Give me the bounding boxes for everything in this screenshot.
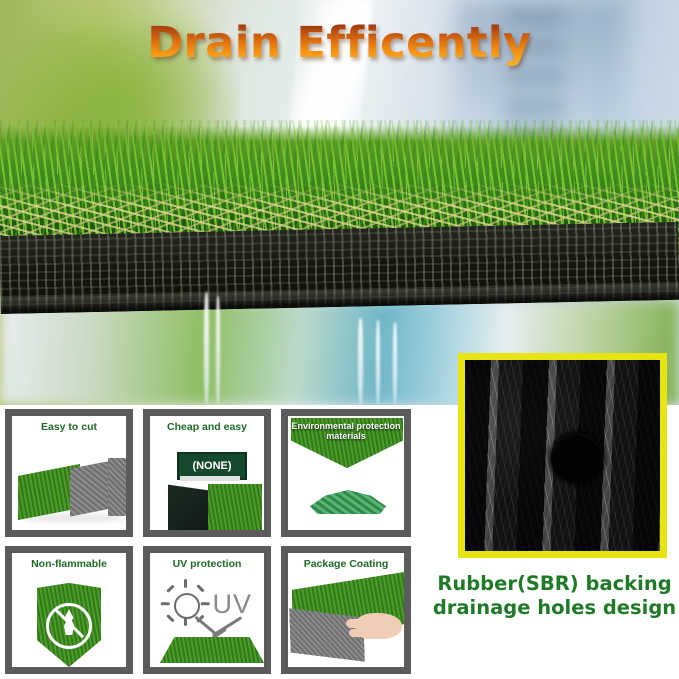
feature-panel-package-coating[interactable]: Package Coating	[281, 546, 411, 674]
mesh-backing-layer	[0, 222, 679, 314]
finger	[346, 619, 364, 628]
finger	[349, 629, 364, 637]
grass-surface	[160, 637, 264, 663]
green-turf-patch	[208, 484, 262, 534]
sun-ray	[166, 614, 174, 622]
package-coating-illustration	[288, 573, 404, 667]
feature-panel-easy-to-cut[interactable]: Easy to cut	[5, 409, 133, 537]
sun-ray	[201, 602, 210, 605]
sun-ray	[161, 602, 170, 605]
sun-ray	[166, 584, 174, 592]
uv-protection-illustration: UV	[150, 573, 264, 667]
sun-ray	[184, 617, 187, 626]
water-drip	[393, 322, 397, 404]
drainage-hole	[551, 433, 603, 483]
rubber-caption-line1: Rubber(SBR) backing	[430, 572, 679, 596]
turf-rolled-curl	[108, 458, 133, 516]
page-title: Drain Efficently	[0, 18, 679, 68]
non-flammable-illustration	[12, 573, 126, 667]
none-sign-illustration: (NONE)	[150, 436, 264, 530]
feature-panel-environmental-protection[interactable]: Environmental protection materials	[281, 409, 411, 537]
rubber-backing-photo	[458, 353, 667, 558]
panel-label: Easy to cut	[12, 421, 126, 433]
water-drip	[204, 292, 209, 404]
product-infographic: Drain Efficently Easy to cut Cheap and e…	[0, 0, 679, 679]
sun-ray	[184, 579, 187, 588]
feature-panel-cheap-and-easy[interactable]: Cheap and easy (NONE)	[143, 409, 271, 537]
feature-panel-non-flammable[interactable]: Non-flammable	[5, 546, 133, 674]
uv-label-icon: UV	[212, 589, 252, 620]
panel-label: Environmental protection materials	[288, 421, 404, 441]
water-drip	[376, 320, 380, 404]
rolled-turf-illustration	[12, 436, 126, 530]
panel-label: Cheap and easy	[150, 421, 264, 433]
panel-label: Non-flammable	[12, 558, 126, 570]
rubber-caption: Rubber(SBR) backing drainage holes desig…	[430, 572, 679, 620]
feature-panel-uv-protection[interactable]: UV protection UV	[143, 546, 271, 674]
feature-panel-grid: Easy to cut Cheap and easy (NONE)	[5, 409, 413, 674]
panel-label: Package Coating	[288, 558, 404, 570]
panel-label: UV protection	[150, 558, 264, 570]
green-plastic-pellets	[310, 488, 386, 514]
rubber-caption-line2: drainage holes design	[430, 596, 679, 620]
water-drip	[358, 318, 363, 404]
sun-ray	[196, 584, 204, 592]
hero-photo: Drain Efficently	[0, 0, 679, 405]
sign-base	[180, 476, 240, 481]
water-drip	[216, 296, 220, 404]
